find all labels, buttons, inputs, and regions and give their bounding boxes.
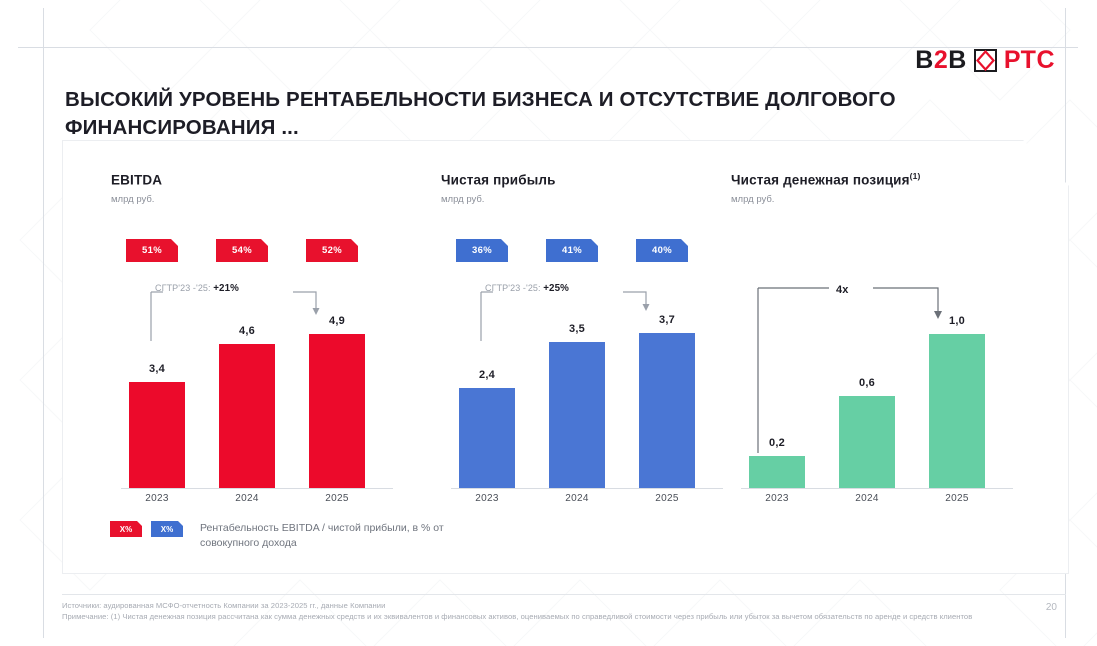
bar-value-label: 0,6	[839, 377, 895, 389]
x-axis-tick-label: 2023	[459, 493, 515, 504]
bar[interactable]	[749, 456, 805, 488]
chart-panel-net-cash: Чистая денежная позиция(1) млрд руб. 4x …	[731, 171, 1021, 521]
cagr-label: СГТР'23 -'25: +25%	[485, 283, 569, 294]
margin-badge: 40%	[636, 239, 688, 262]
margin-badge: 54%	[216, 239, 268, 262]
page-title: ВЫСОКИЙ УРОВЕНЬ РЕНТАБЕЛЬНОСТИ БИЗНЕСА И…	[65, 86, 1025, 142]
bar-value-label: 2,4	[459, 369, 515, 381]
chart-title: EBITDA	[111, 171, 401, 189]
margin-badge: 41%	[546, 239, 598, 262]
chart-plot-area: 0,2 0,6 1,0	[731, 299, 1021, 489]
chart-plot-area: 3,4 4,6 4,9	[111, 299, 401, 489]
chart-subtitle: млрд руб.	[441, 194, 731, 205]
bar-value-label: 3,4	[129, 363, 185, 375]
bar[interactable]	[549, 342, 605, 488]
charts-card-inner: EBITDA млрд руб. 51% 54% 52% СГТР'23 -'2…	[63, 141, 1068, 573]
bar-value-label: 3,7	[639, 314, 695, 326]
x-axis-tick-label: 2024	[839, 493, 895, 504]
logo-b2b-text: B2B	[915, 48, 967, 73]
legend-badge-red: X%	[110, 521, 142, 537]
x-axis-tick-label: 2025	[639, 493, 695, 504]
bar[interactable]	[929, 334, 985, 488]
footer-divider	[62, 594, 1066, 595]
x-axis-tick-label: 2025	[309, 493, 365, 504]
bar-group: 0,6	[839, 396, 895, 488]
chart-title-superscript: (1)	[910, 171, 921, 181]
legend-badge-blue: X%	[151, 521, 183, 537]
diamond-in-square-icon	[974, 49, 997, 72]
chart-subtitle: млрд руб.	[111, 194, 401, 205]
x-axis-tick-label: 2023	[129, 493, 185, 504]
x-axis-labels: 2023 2024 2025	[111, 493, 401, 509]
logo-rts-text: РТС	[1004, 48, 1055, 73]
margin-badge: 36%	[456, 239, 508, 262]
footer-sources: Источники: аудированная МСФО-отчетность …	[62, 600, 1037, 611]
bar-group: 4,9	[309, 334, 365, 488]
x-axis-line	[741, 488, 1013, 489]
bar[interactable]	[309, 334, 365, 488]
footer-notes: Источники: аудированная МСФО-отчетность …	[62, 600, 1037, 623]
x-axis-labels: 2023 2024 2025	[441, 493, 731, 509]
x-axis-line	[451, 488, 723, 489]
chart-panel-ebitda: EBITDA млрд руб. 51% 54% 52% СГТР'23 -'2…	[111, 171, 401, 521]
bar-group: 3,7	[639, 333, 695, 488]
chart-subtitle: млрд руб.	[731, 194, 1021, 205]
bar[interactable]	[129, 382, 185, 488]
charts-card: EBITDA млрд руб. 51% 54% 52% СГТР'23 -'2…	[62, 140, 1069, 574]
chart-title: Чистая денежная позиция(1)	[731, 171, 1021, 189]
chart-plot-area: 2,4 3,5 3,7	[441, 299, 731, 489]
bar-group: 2,4	[459, 388, 515, 488]
x-axis-labels: 2023 2024 2025	[731, 493, 1021, 509]
bar-value-label: 4,6	[219, 325, 275, 337]
guide-line-left	[43, 8, 44, 638]
bar-value-label: 4,9	[309, 315, 365, 327]
chart-title: Чистая прибыль	[441, 171, 731, 189]
bar[interactable]	[839, 396, 895, 488]
growth-label: 4x	[836, 284, 848, 296]
x-axis-tick-label: 2025	[929, 493, 985, 504]
x-axis-tick-label: 2024	[219, 493, 275, 504]
bar-group: 0,2	[749, 456, 805, 488]
page-number: 20	[1046, 602, 1057, 613]
bar-group: 4,6	[219, 344, 275, 488]
legend-text: Рентабельность EBITDA / чистой прибыли, …	[200, 521, 500, 551]
bar[interactable]	[459, 388, 515, 488]
x-axis-line	[121, 488, 393, 489]
bar[interactable]	[639, 333, 695, 488]
chart-legend: X% X% Рентабельность EBITDA / чистой при…	[110, 521, 500, 551]
margin-badge: 52%	[306, 239, 358, 262]
brand-logo: B2B РТС	[915, 48, 1055, 73]
bar-group: 3,4	[129, 382, 185, 488]
margin-badges: 51% 54% 52%	[111, 239, 401, 263]
bar-value-label: 3,5	[549, 323, 605, 335]
bar-value-label: 0,2	[749, 437, 805, 449]
margin-badge: 51%	[126, 239, 178, 262]
chart-panel-net-profit: Чистая прибыль млрд руб. 36% 41% 40% СГТ…	[441, 171, 731, 521]
x-axis-tick-label: 2023	[749, 493, 805, 504]
bar-group: 1,0	[929, 334, 985, 488]
x-axis-tick-label: 2024	[549, 493, 605, 504]
cagr-label: СГТР'23 -'25: +21%	[155, 283, 239, 294]
slide: B2B РТС ВЫСОКИЙ УРОВЕНЬ РЕНТАБЕЛЬНОСТИ Б…	[0, 0, 1097, 646]
bar[interactable]	[219, 344, 275, 488]
margin-badges: 36% 41% 40%	[441, 239, 731, 263]
bar-value-label: 1,0	[929, 315, 985, 327]
footer-note: Примечание: (1) Чистая денежная позиция …	[62, 611, 1037, 622]
bar-group: 3,5	[549, 342, 605, 488]
